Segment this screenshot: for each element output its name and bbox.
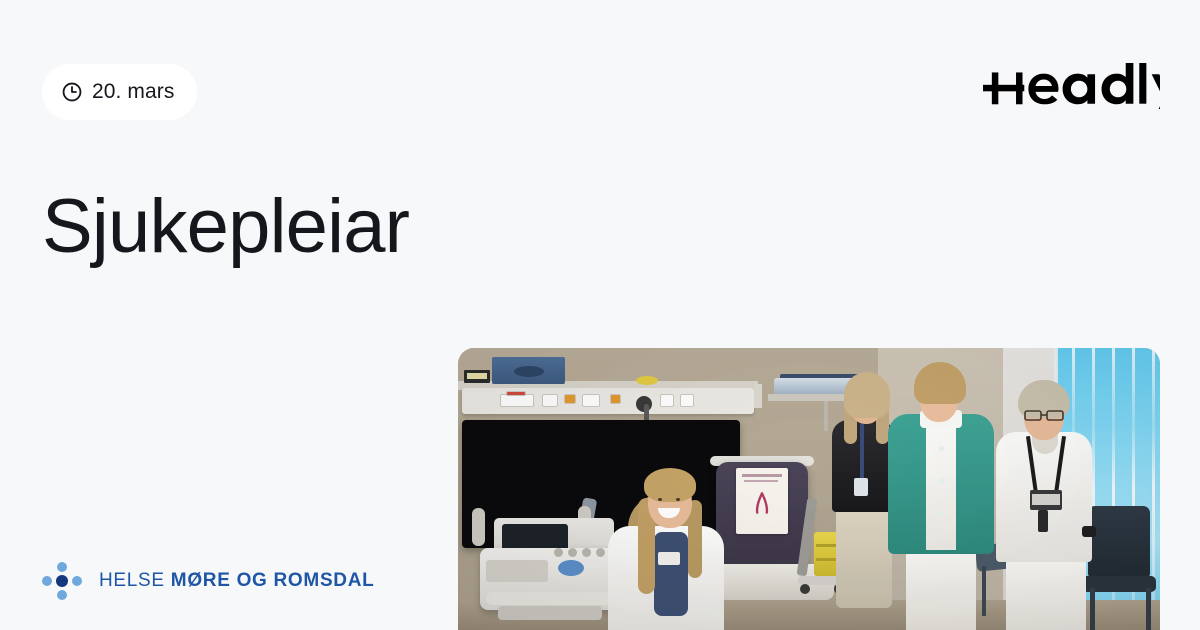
headly-logo[interactable] xyxy=(983,63,1160,109)
headly-wordmark-icon xyxy=(983,63,1160,109)
page-title: Sjukepleiar xyxy=(42,186,409,268)
helse-dots-icon xyxy=(40,560,86,602)
organization-name: HELSE MØRE OG ROMSDAL xyxy=(99,570,374,592)
date-badge: 20. mars xyxy=(42,64,197,120)
photo-grain-overlay xyxy=(458,348,1160,630)
organization-logo: HELSE MØRE OG ROMSDAL xyxy=(40,560,374,602)
clock-icon xyxy=(61,81,83,103)
org-name-light: HELSE xyxy=(99,570,165,591)
org-name-bold: MØRE OG ROMSDAL xyxy=(171,570,375,591)
article-photo xyxy=(458,348,1160,630)
date-label: 20. mars xyxy=(92,80,175,104)
